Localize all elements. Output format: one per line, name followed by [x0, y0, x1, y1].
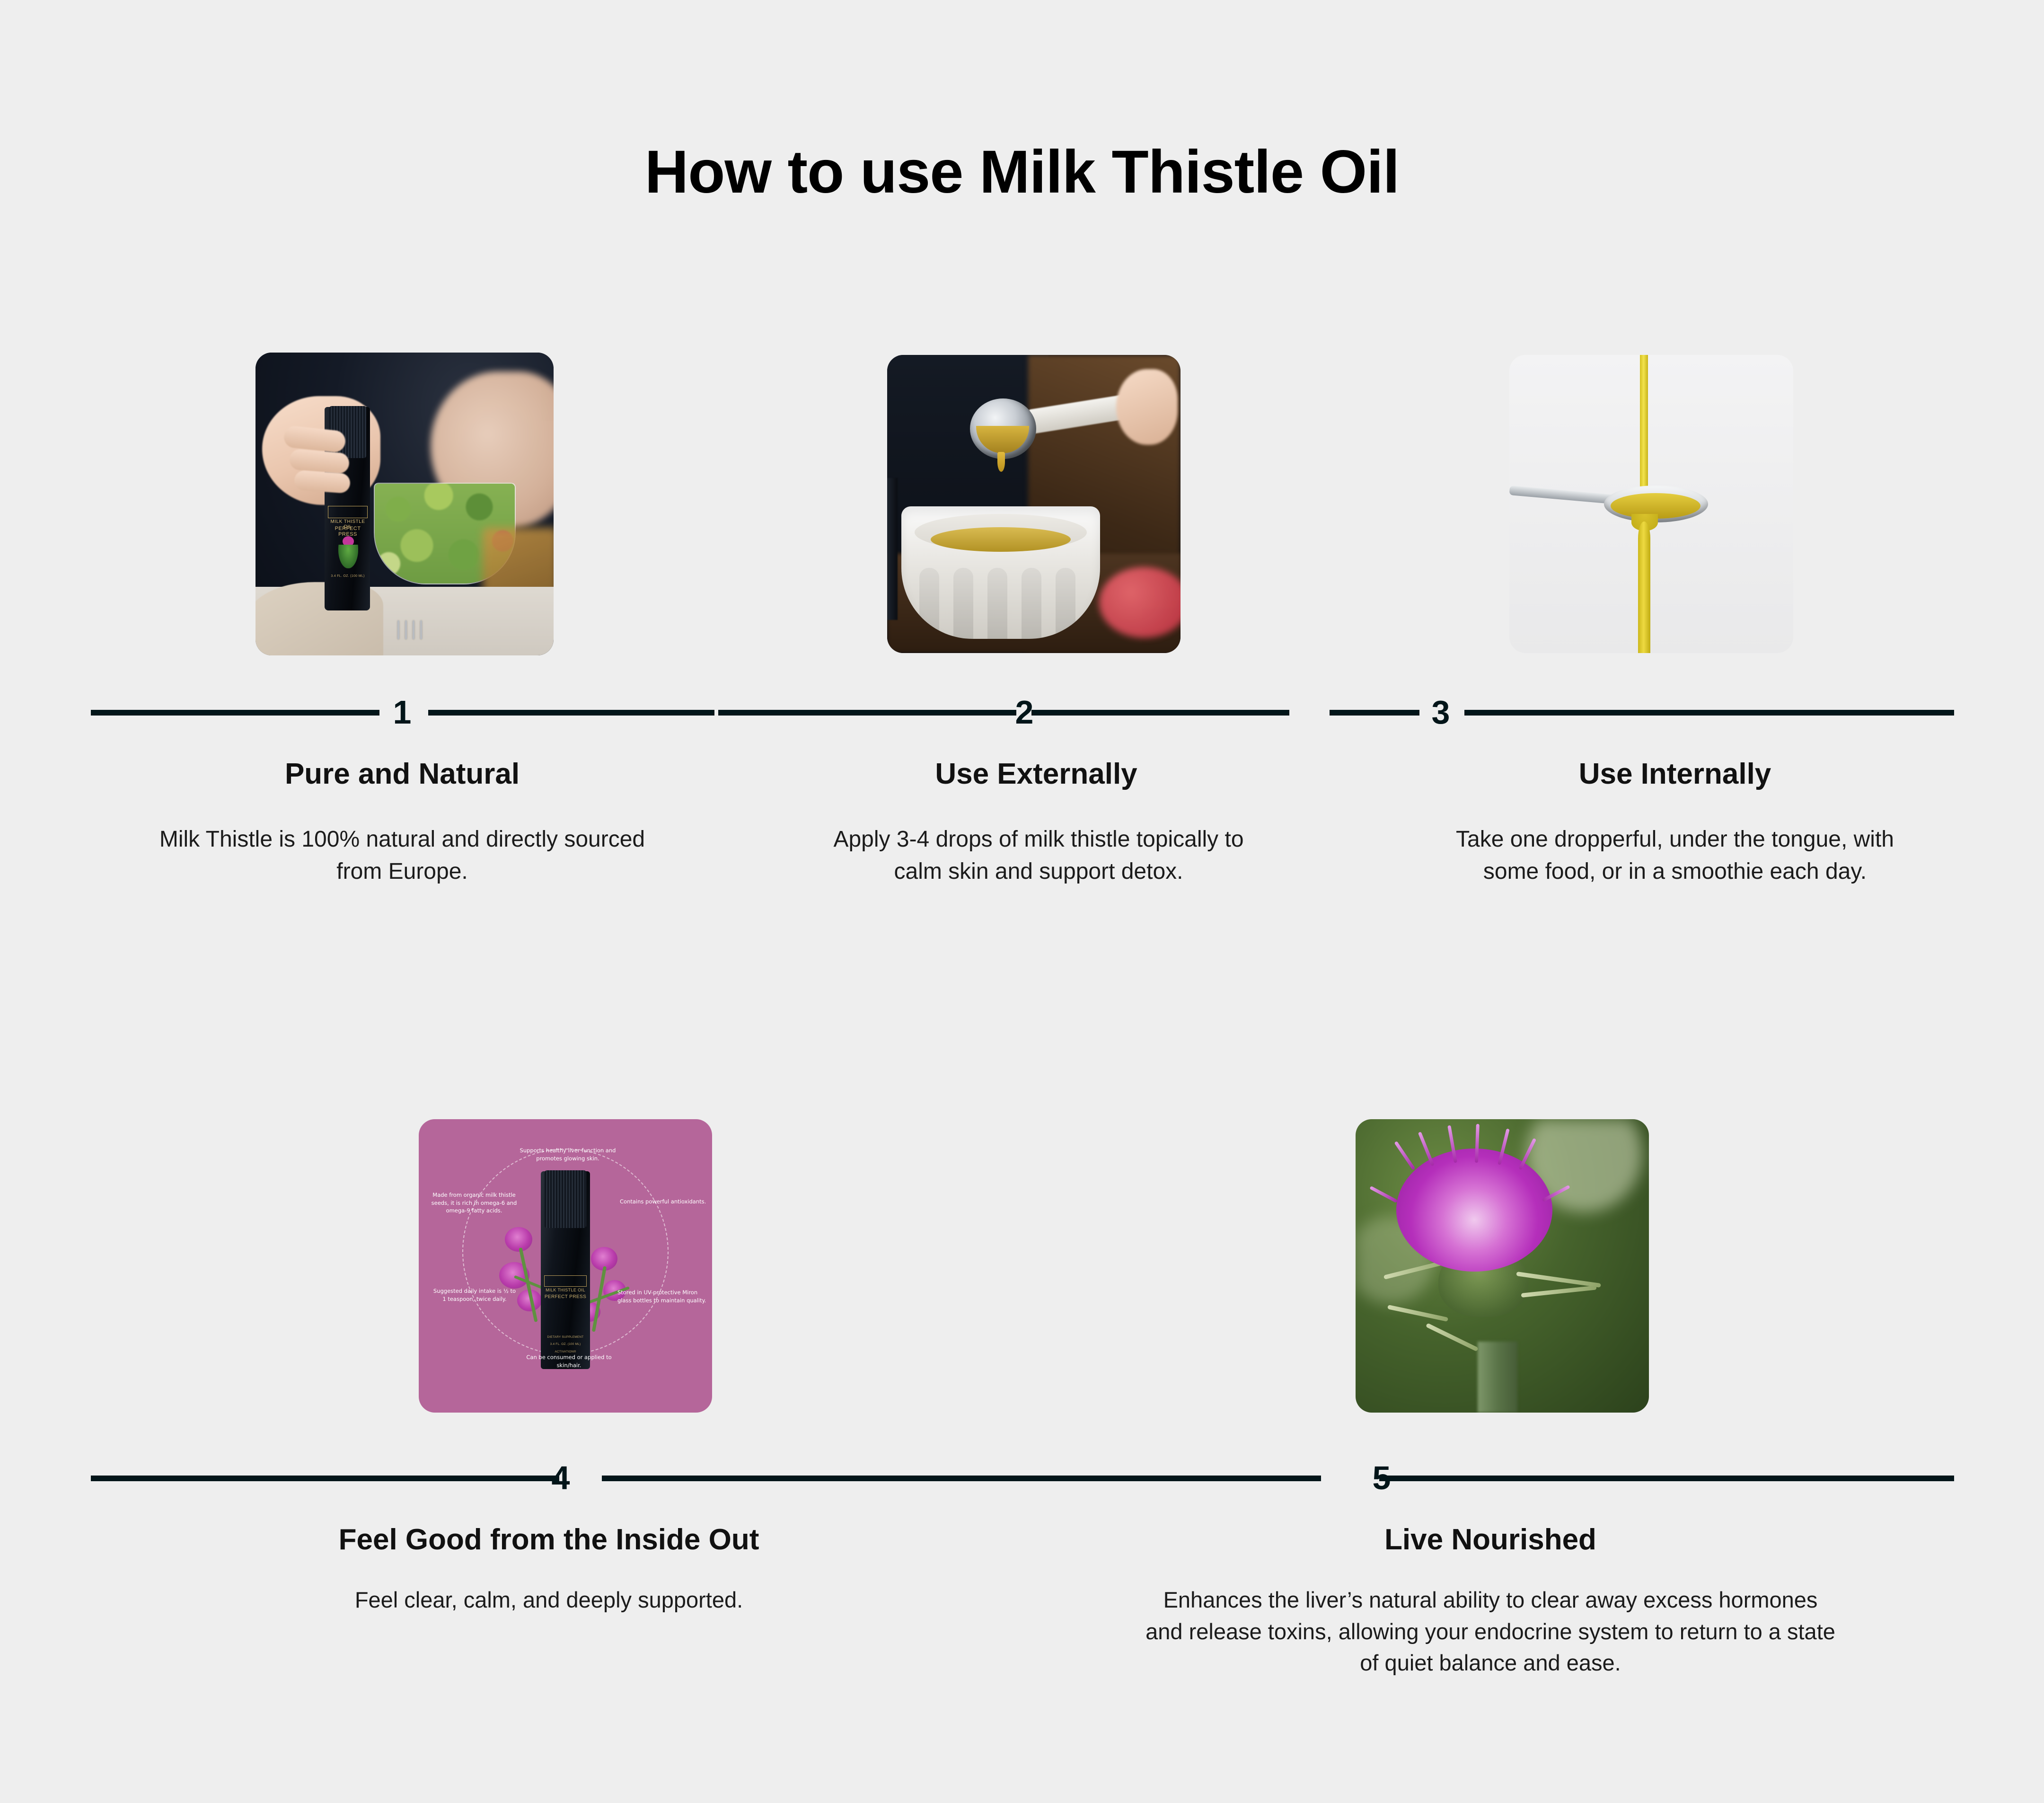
step-number-3: 3: [1419, 686, 1462, 738]
divider-segment: [602, 1476, 1321, 1481]
fingers: [1116, 369, 1178, 445]
step-body-5: Enhances the liver’s natural ability to …: [1145, 1584, 1836, 1679]
label-supplement-text: DIETARY SUPPLEMENT: [543, 1335, 588, 1340]
step-heading-2: Use Externally: [795, 757, 1277, 791]
metal-spoon: [1509, 479, 1708, 526]
step-number-1: 1: [381, 686, 423, 738]
divider-segment: [1464, 710, 1954, 716]
step-image-2: [887, 355, 1181, 653]
label-volume-text: 3.4 FL. OZ. (100 ML): [328, 574, 368, 579]
benefit-callout-bottom: Can be consumed or applied to skin/hair.: [520, 1353, 617, 1369]
page-title: How to use Milk Thistle Oil: [0, 137, 2044, 207]
benefit-callout-right-lower: Stored in UV-protective Miron glass bott…: [617, 1289, 710, 1304]
label-brand-box: [544, 1275, 587, 1287]
step-body-4: Feel clear, calm, and deeply supported.: [203, 1584, 894, 1616]
benefit-callout-left-upper: Made from organic milk thistle seeds, it…: [429, 1191, 519, 1215]
label-volume-text: 3.4 FL. OZ. (100 ML): [543, 1342, 588, 1347]
divider-segment: [91, 1476, 559, 1481]
oil-drip: [997, 452, 1005, 472]
divider-row-top: 1 2 3: [0, 686, 2044, 738]
benefit-callout-right-upper: Contains powerful antioxidants.: [620, 1198, 707, 1206]
label-brand-text: PERFECT PRESS: [544, 1294, 587, 1299]
oil-stream-lower: [1638, 521, 1650, 653]
step-heading-4: Feel Good from the Inside Out: [203, 1523, 894, 1556]
step-heading-3: Use Internally: [1434, 757, 1916, 791]
ceramic-bowl: [901, 506, 1100, 639]
divider-segment: [1379, 1476, 1954, 1481]
label-brand-box: [328, 506, 368, 518]
divider-segment: [1031, 710, 1289, 716]
step-number-2: 2: [1003, 686, 1046, 738]
divider-row-bottom: 4 5: [0, 1452, 2044, 1504]
divider-segment: [718, 710, 1016, 716]
divider-segment: [428, 710, 714, 716]
step-heading-5: Live Nourished: [1126, 1523, 1855, 1556]
step-number-4: 4: [539, 1452, 582, 1504]
oil-in-bowl: [931, 527, 1071, 552]
step-image-5: [1356, 1119, 1649, 1413]
fork-icon: [393, 620, 445, 639]
step-heading-1: Pure and Natural: [161, 757, 643, 791]
bottle-edge: [887, 478, 898, 620]
step-body-2: Apply 3-4 drops of milk thistle topicall…: [826, 823, 1251, 888]
step-body-1: Milk Thistle is 100% natural and directl…: [142, 823, 662, 888]
benefit-callout-top: Supports healthy liver function and prom…: [518, 1147, 617, 1162]
divider-segment: [1330, 710, 1419, 716]
benefit-callout-left-lower: Suggested daily intake is ½ to 1 teaspoo…: [432, 1287, 517, 1303]
step-number-5: 5: [1360, 1452, 1403, 1504]
thistle-stalk: [1478, 1342, 1517, 1413]
divider-segment: [91, 710, 379, 716]
step-image-1: PERFECT PRESS MILK THISTLE OIL 3.4 FL. O…: [255, 353, 554, 655]
infographic-page: How to use Milk Thistle Oil PERFECT PRES…: [0, 0, 2044, 1803]
thistle-label-icon: [338, 536, 358, 569]
step-image-4: PERFECT PRESS MILK THISTLE OIL DIETARY S…: [419, 1119, 712, 1413]
label-product-name: MILK THISTLE OIL: [544, 1288, 587, 1292]
bottle-cap: [545, 1170, 586, 1228]
step-image-3: [1509, 355, 1793, 653]
thistle-flower-head: [1396, 1149, 1552, 1272]
label-product-name: MILK THISTLE OIL: [328, 519, 368, 530]
step-body-3: Take one dropperful, under the tongue, w…: [1448, 823, 1902, 888]
